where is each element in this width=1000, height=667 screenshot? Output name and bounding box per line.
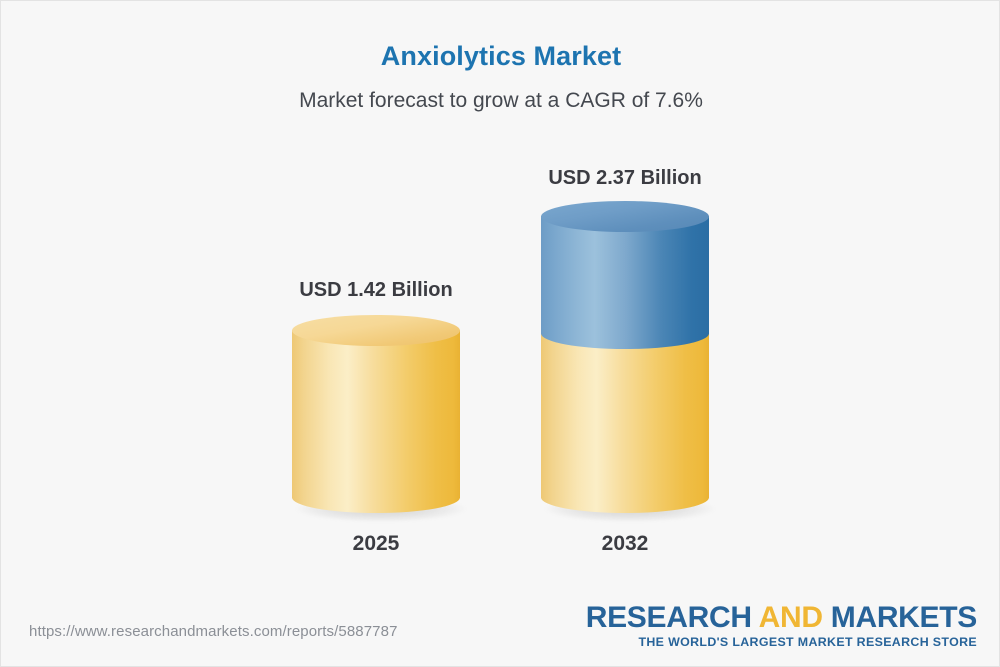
chart-canvas: Anxiolytics Market Market forecast to gr… [0, 0, 1000, 667]
cylinder-top-cap [292, 315, 460, 346]
cylinder-segment-growth [541, 216, 709, 334]
logo-wordmark: RESEARCH AND MARKETS [586, 601, 977, 635]
report-url[interactable]: https://www.researchandmarkets.com/repor… [29, 623, 398, 640]
data-label-2025: USD 1.42 Billion [276, 279, 476, 302]
logo-word-research: RESEARCH [586, 601, 752, 634]
page-title: Anxiolytics Market [1, 41, 1000, 72]
page-subtitle: Market forecast to grow at a CAGR of 7.6… [1, 89, 1000, 113]
bar-cylinder-2025 [292, 315, 460, 513]
bar-cylinder-2032 [541, 201, 709, 513]
axis-label-2032: 2032 [525, 532, 725, 556]
logo-tagline: THE WORLD'S LARGEST MARKET RESEARCH STOR… [586, 635, 977, 650]
logo-word-markets: MARKETS [831, 601, 977, 634]
cylinder-top-cap [541, 201, 709, 232]
cylinder-segment-base [541, 330, 709, 498]
axis-label-2025: 2025 [276, 532, 476, 556]
cylinder-segment-base [292, 330, 460, 498]
data-label-2032: USD 2.37 Billion [525, 167, 725, 190]
research-and-markets-logo[interactable]: RESEARCH AND MARKETS THE WORLD'S LARGEST… [586, 601, 977, 650]
logo-word-and: AND [752, 601, 831, 634]
